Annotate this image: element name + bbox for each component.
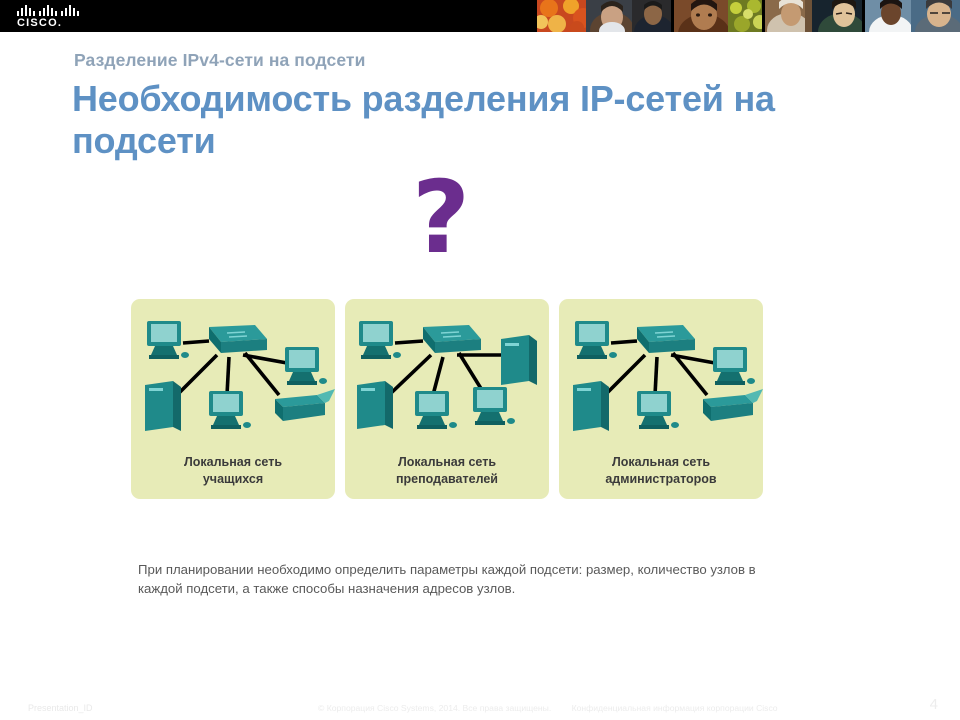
lan-caption-line2: преподавателей bbox=[396, 472, 498, 486]
network-topology-1 bbox=[131, 303, 335, 451]
lan-caption-line2: учащихся bbox=[203, 472, 263, 486]
lan-caption-line2: администраторов bbox=[605, 472, 716, 486]
top-banner: CISCO. bbox=[0, 0, 960, 32]
footer-legal: © Корпорация Cisco Systems, 2014. Все пр… bbox=[318, 703, 796, 713]
body-paragraph: При планировании необходимо определить п… bbox=[138, 560, 778, 598]
server-icon bbox=[501, 335, 537, 385]
lan-diagram-teachers: Локальная сеть преподавателей bbox=[345, 299, 549, 499]
banner-photo-3 bbox=[632, 0, 671, 32]
cisco-logo: CISCO. bbox=[14, 4, 94, 30]
banner-photo-1 bbox=[537, 0, 587, 32]
lan-caption-line1: Локальная сеть bbox=[398, 455, 496, 469]
network-topology-2 bbox=[345, 303, 549, 451]
lan-diagram-students: Локальная сеть учащихся bbox=[131, 299, 335, 499]
laptop-icon bbox=[275, 389, 335, 421]
footer-confidential: Конфиденциальная информация корпорации C… bbox=[572, 703, 778, 713]
cisco-bridge-icon bbox=[17, 4, 79, 16]
lan-caption: Локальная сеть учащихся bbox=[131, 454, 335, 487]
lan-caption: Локальная сеть преподавателей bbox=[345, 454, 549, 487]
slide: CISCO. bbox=[0, 0, 960, 720]
pc-icon bbox=[473, 387, 515, 425]
pc-icon bbox=[415, 391, 457, 429]
page-number: 4 bbox=[930, 696, 938, 713]
pc-icon bbox=[147, 321, 189, 359]
pc-icon bbox=[209, 391, 251, 429]
footer-copyright: © Корпорация Cisco Systems, 2014. Все пр… bbox=[318, 703, 551, 713]
switch-icon bbox=[423, 325, 481, 353]
server-icon bbox=[357, 381, 393, 429]
server-icon bbox=[145, 381, 181, 431]
banner-photo-6 bbox=[765, 0, 813, 32]
banner-photo-2 bbox=[586, 0, 632, 32]
banner-photo-7 bbox=[812, 0, 862, 32]
lan-caption: Локальная сеть администраторов bbox=[559, 454, 763, 487]
lan-caption-line1: Локальная сеть bbox=[184, 455, 282, 469]
pc-icon bbox=[713, 347, 755, 385]
laptop-icon bbox=[703, 389, 763, 421]
pc-icon bbox=[285, 347, 327, 385]
slide-eyebrow-title: Разделение IPv4-сети на подсети bbox=[74, 50, 365, 71]
banner-photo-9 bbox=[911, 0, 960, 32]
lan-diagram-admins: Локальная сеть администраторов bbox=[559, 299, 763, 499]
lan-caption-line1: Локальная сеть bbox=[612, 455, 710, 469]
banner-photo-4 bbox=[674, 0, 729, 32]
pc-icon bbox=[637, 391, 679, 429]
page-title: Необходимость разделения IP-сетей на под… bbox=[72, 78, 912, 163]
network-topology-3 bbox=[559, 303, 763, 451]
pc-icon bbox=[575, 321, 617, 359]
server-icon bbox=[573, 381, 609, 431]
pc-icon bbox=[359, 321, 401, 359]
banner-photo-strip bbox=[534, 0, 960, 32]
lan-diagram-group: Локальная сеть учащихся bbox=[131, 299, 773, 499]
cisco-wordmark: CISCO. bbox=[17, 17, 94, 29]
question-mark-icon: ? bbox=[412, 168, 470, 268]
switch-icon bbox=[209, 325, 267, 353]
banner-photo-8 bbox=[865, 0, 911, 32]
banner-photo-5 bbox=[728, 0, 762, 32]
switch-icon bbox=[637, 325, 695, 353]
footer-presentation-id: Presentation_ID bbox=[28, 703, 93, 713]
